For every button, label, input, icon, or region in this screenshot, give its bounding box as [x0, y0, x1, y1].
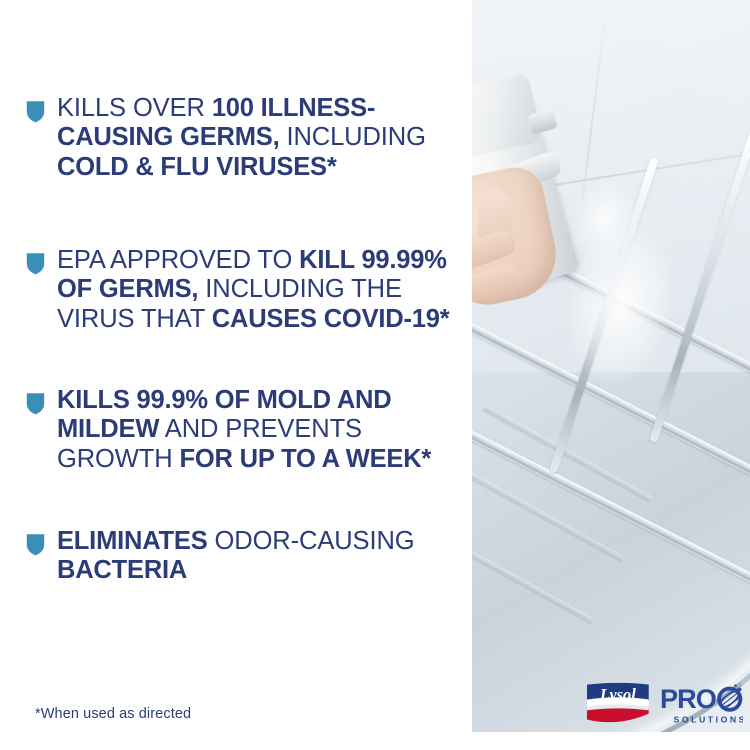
photo-finger	[472, 261, 524, 305]
benefit-seg-bold: COLD & FLU VIRUSES*	[57, 153, 337, 181]
benefit-text-3: KILLS 99.9% OF MOLD AND MILDEW AND PREVE…	[57, 386, 456, 474]
lysol-logo: Lysol	[583, 680, 653, 728]
shield-icon	[26, 100, 45, 123]
benefit-seg-bold: CAUSES COVID-19*	[212, 305, 450, 333]
benefit-item-1: KILLS OVER 100 ILLNESS-CAUSING GERMS, IN…	[26, 94, 456, 182]
shield-icon	[26, 252, 45, 275]
benefit-text-1: KILLS OVER 100 ILLNESS-CAUSING GERMS, IN…	[57, 94, 456, 182]
benefits-list: KILLS OVER 100 ILLNESS-CAUSING GERMS, IN…	[0, 0, 472, 750]
pro-wordmark: PRO	[660, 683, 716, 714]
benefit-seg-bold: BACTERIA	[57, 556, 187, 584]
shield-icon	[26, 392, 45, 415]
benefit-seg-plain: EPA APPROVED TO	[57, 246, 299, 274]
pro-solutions-logo: PRO SOLUTIONS	[660, 682, 743, 726]
benefit-item-3: KILLS 99.9% OF MOLD AND MILDEW AND PREVE…	[26, 386, 456, 474]
benefit-text-4: ELIMINATES ODOR-CAUSING BACTERIA	[57, 527, 456, 586]
shield-icon	[26, 533, 45, 556]
benefit-seg-bold: FOR UP TO A WEEK*	[180, 445, 432, 473]
lysol-wordmark: Lysol	[599, 685, 636, 704]
benefit-item-4: ELIMINATES ODOR-CAUSING BACTERIA	[26, 527, 456, 586]
footnote: *When used as directed	[35, 706, 191, 722]
promo-card: KILLS OVER 100 ILLNESS-CAUSING GERMS, IN…	[0, 0, 750, 750]
photo-slat	[472, 527, 594, 627]
pro-tagline: SOLUTIONS	[673, 714, 743, 724]
benefit-seg-plain: ODOR-CAUSING	[208, 527, 415, 555]
product-photo	[472, 0, 750, 732]
benefit-seg-plain: INCLUDING	[279, 123, 425, 151]
benefit-seg-bold: ELIMINATES	[57, 527, 208, 555]
benefit-text-2: EPA APPROVED TO KILL 99.99% OF GERMS, IN…	[57, 246, 456, 334]
benefit-item-2: EPA APPROVED TO KILL 99.99% OF GERMS, IN…	[26, 246, 456, 334]
benefit-seg-plain: KILLS OVER	[57, 94, 212, 122]
brand-logos: Lysol PRO SOLUTIONS	[583, 679, 743, 729]
